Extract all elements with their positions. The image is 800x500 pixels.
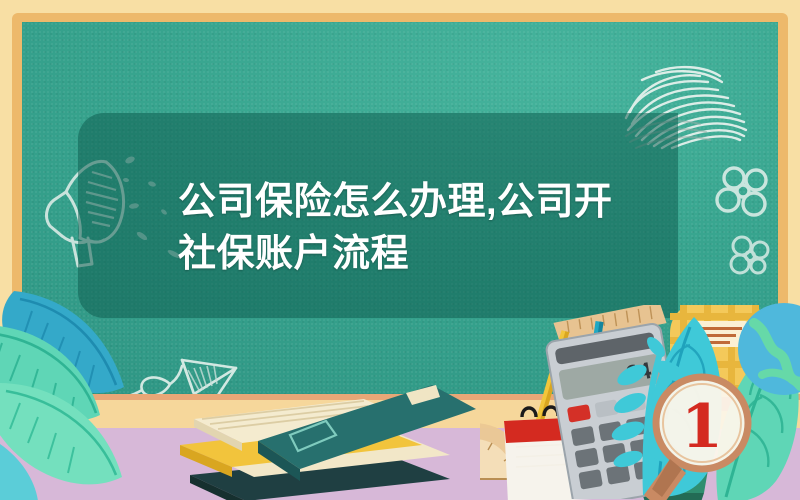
page-title: 公司保险怎么办理,公司开社保账户流程 [178,176,648,280]
magnifier-number-value: 1 [681,392,723,462]
magnifier: 1 [640,363,780,500]
poster-canvas: 公司保险怎么办理,公司开社保账户流程 [0,0,800,500]
book-stack [150,349,490,500]
